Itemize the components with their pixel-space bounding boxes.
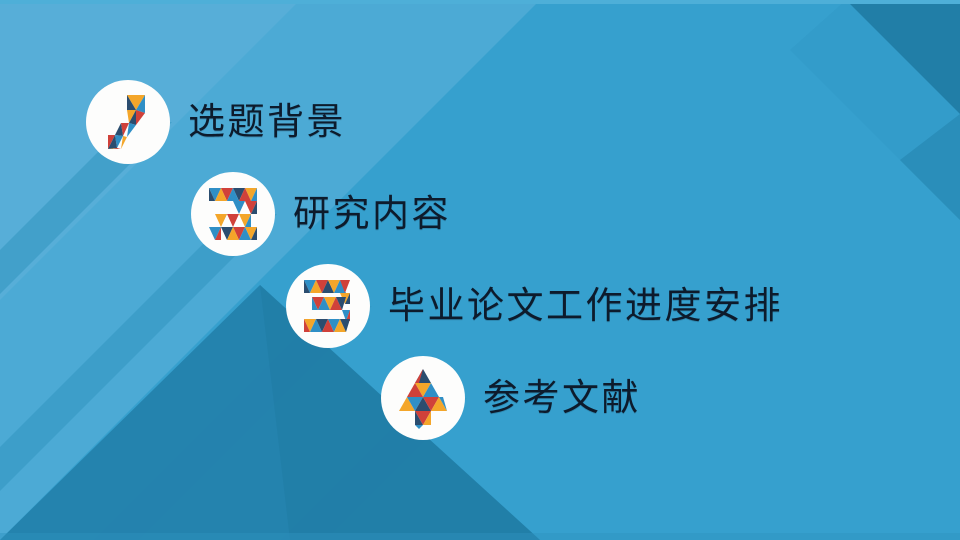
number-three-mosaic-icon — [298, 276, 358, 336]
number-one-mosaic-icon — [99, 91, 157, 153]
agenda-list: 选题背景 — [0, 0, 960, 540]
agenda-item-3[interactable]: 毕业论文工作进度安排 — [286, 264, 783, 348]
agenda-item-label-2: 研究内容 — [293, 196, 451, 233]
agenda-item-4[interactable]: 参考文献 — [381, 356, 641, 440]
agenda-item-label-3: 毕业论文工作进度安排 — [388, 288, 783, 325]
agenda-item-2[interactable]: 研究内容 — [191, 172, 451, 256]
agenda-number-badge-1 — [86, 80, 170, 164]
agenda-number-badge-3 — [286, 264, 370, 348]
agenda-number-badge-4 — [381, 356, 465, 440]
agenda-number-badge-2 — [191, 172, 275, 256]
number-two-mosaic-icon — [203, 184, 263, 244]
number-four-mosaic-icon — [393, 367, 453, 429]
agenda-item-label-4: 参考文献 — [483, 380, 641, 417]
agenda-slide: 选题背景 — [0, 0, 960, 540]
agenda-item-1[interactable]: 选题背景 — [86, 80, 346, 164]
agenda-item-label-1: 选题背景 — [188, 104, 346, 141]
